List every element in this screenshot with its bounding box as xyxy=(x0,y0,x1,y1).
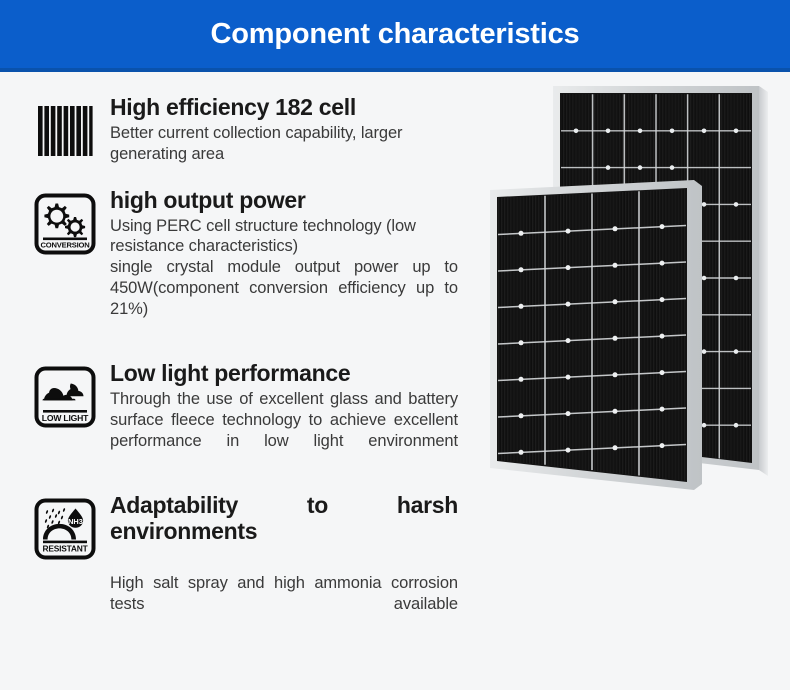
feature-title: Low light performance xyxy=(110,360,458,386)
solar-cell-busbars-icon xyxy=(34,100,96,162)
feature-description: High salt spray and high ammonia corrosi… xyxy=(110,573,458,635)
feature-item-high-efficiency-cell: High efficiency 182 cell Better current … xyxy=(34,94,500,165)
icon-sublabel: NH3 xyxy=(68,517,83,526)
feature-text: Adaptability to harsh environments High … xyxy=(110,492,458,635)
feature-description: Better current collection capability, la… xyxy=(110,123,458,165)
conversion-gears-icon: CONVERSION xyxy=(34,193,96,255)
feature-item-harsh-environment-adaptability: NH3 RESISTANT Adaptability to harsh envi… xyxy=(34,492,500,635)
feature-text: high output power Using PERC cell struct… xyxy=(110,187,458,341)
corrosion-resistant-icon: NH3 RESISTANT xyxy=(34,498,96,560)
feature-item-low-light-performance: LOW LIGHT Low light performance Through … xyxy=(34,360,500,472)
feature-item-high-output-power: CONVERSION high output power Using PERC … xyxy=(34,187,500,341)
content-area: High efficiency 182 cell Better current … xyxy=(0,72,790,686)
feature-text: Low light performance Through the use of… xyxy=(110,360,458,472)
feature-title: high output power xyxy=(110,187,458,213)
front-panel xyxy=(490,180,702,490)
feature-title: Adaptability to harsh environments xyxy=(110,492,458,570)
solar-panel-pair xyxy=(470,72,790,686)
icon-label: RESISTANT xyxy=(42,544,88,554)
low-light-clouds-icon: LOW LIGHT xyxy=(34,366,96,428)
feature-description-secondary: single crystal module output power up to… xyxy=(110,257,458,340)
icon-label: LOW LIGHT xyxy=(42,413,89,423)
feature-description: Through the use of excellent glass and b… xyxy=(110,389,458,472)
feature-list: High efficiency 182 cell Better current … xyxy=(0,72,500,652)
icon-label: CONVERSION xyxy=(40,240,89,249)
page-header: Component characteristics xyxy=(0,0,790,72)
page-title: Component characteristics xyxy=(211,20,580,49)
feature-text: High efficiency 182 cell Better current … xyxy=(110,94,458,165)
feature-title: High efficiency 182 cell xyxy=(110,94,458,120)
feature-description: Using PERC cell structure technology (lo… xyxy=(110,216,458,258)
